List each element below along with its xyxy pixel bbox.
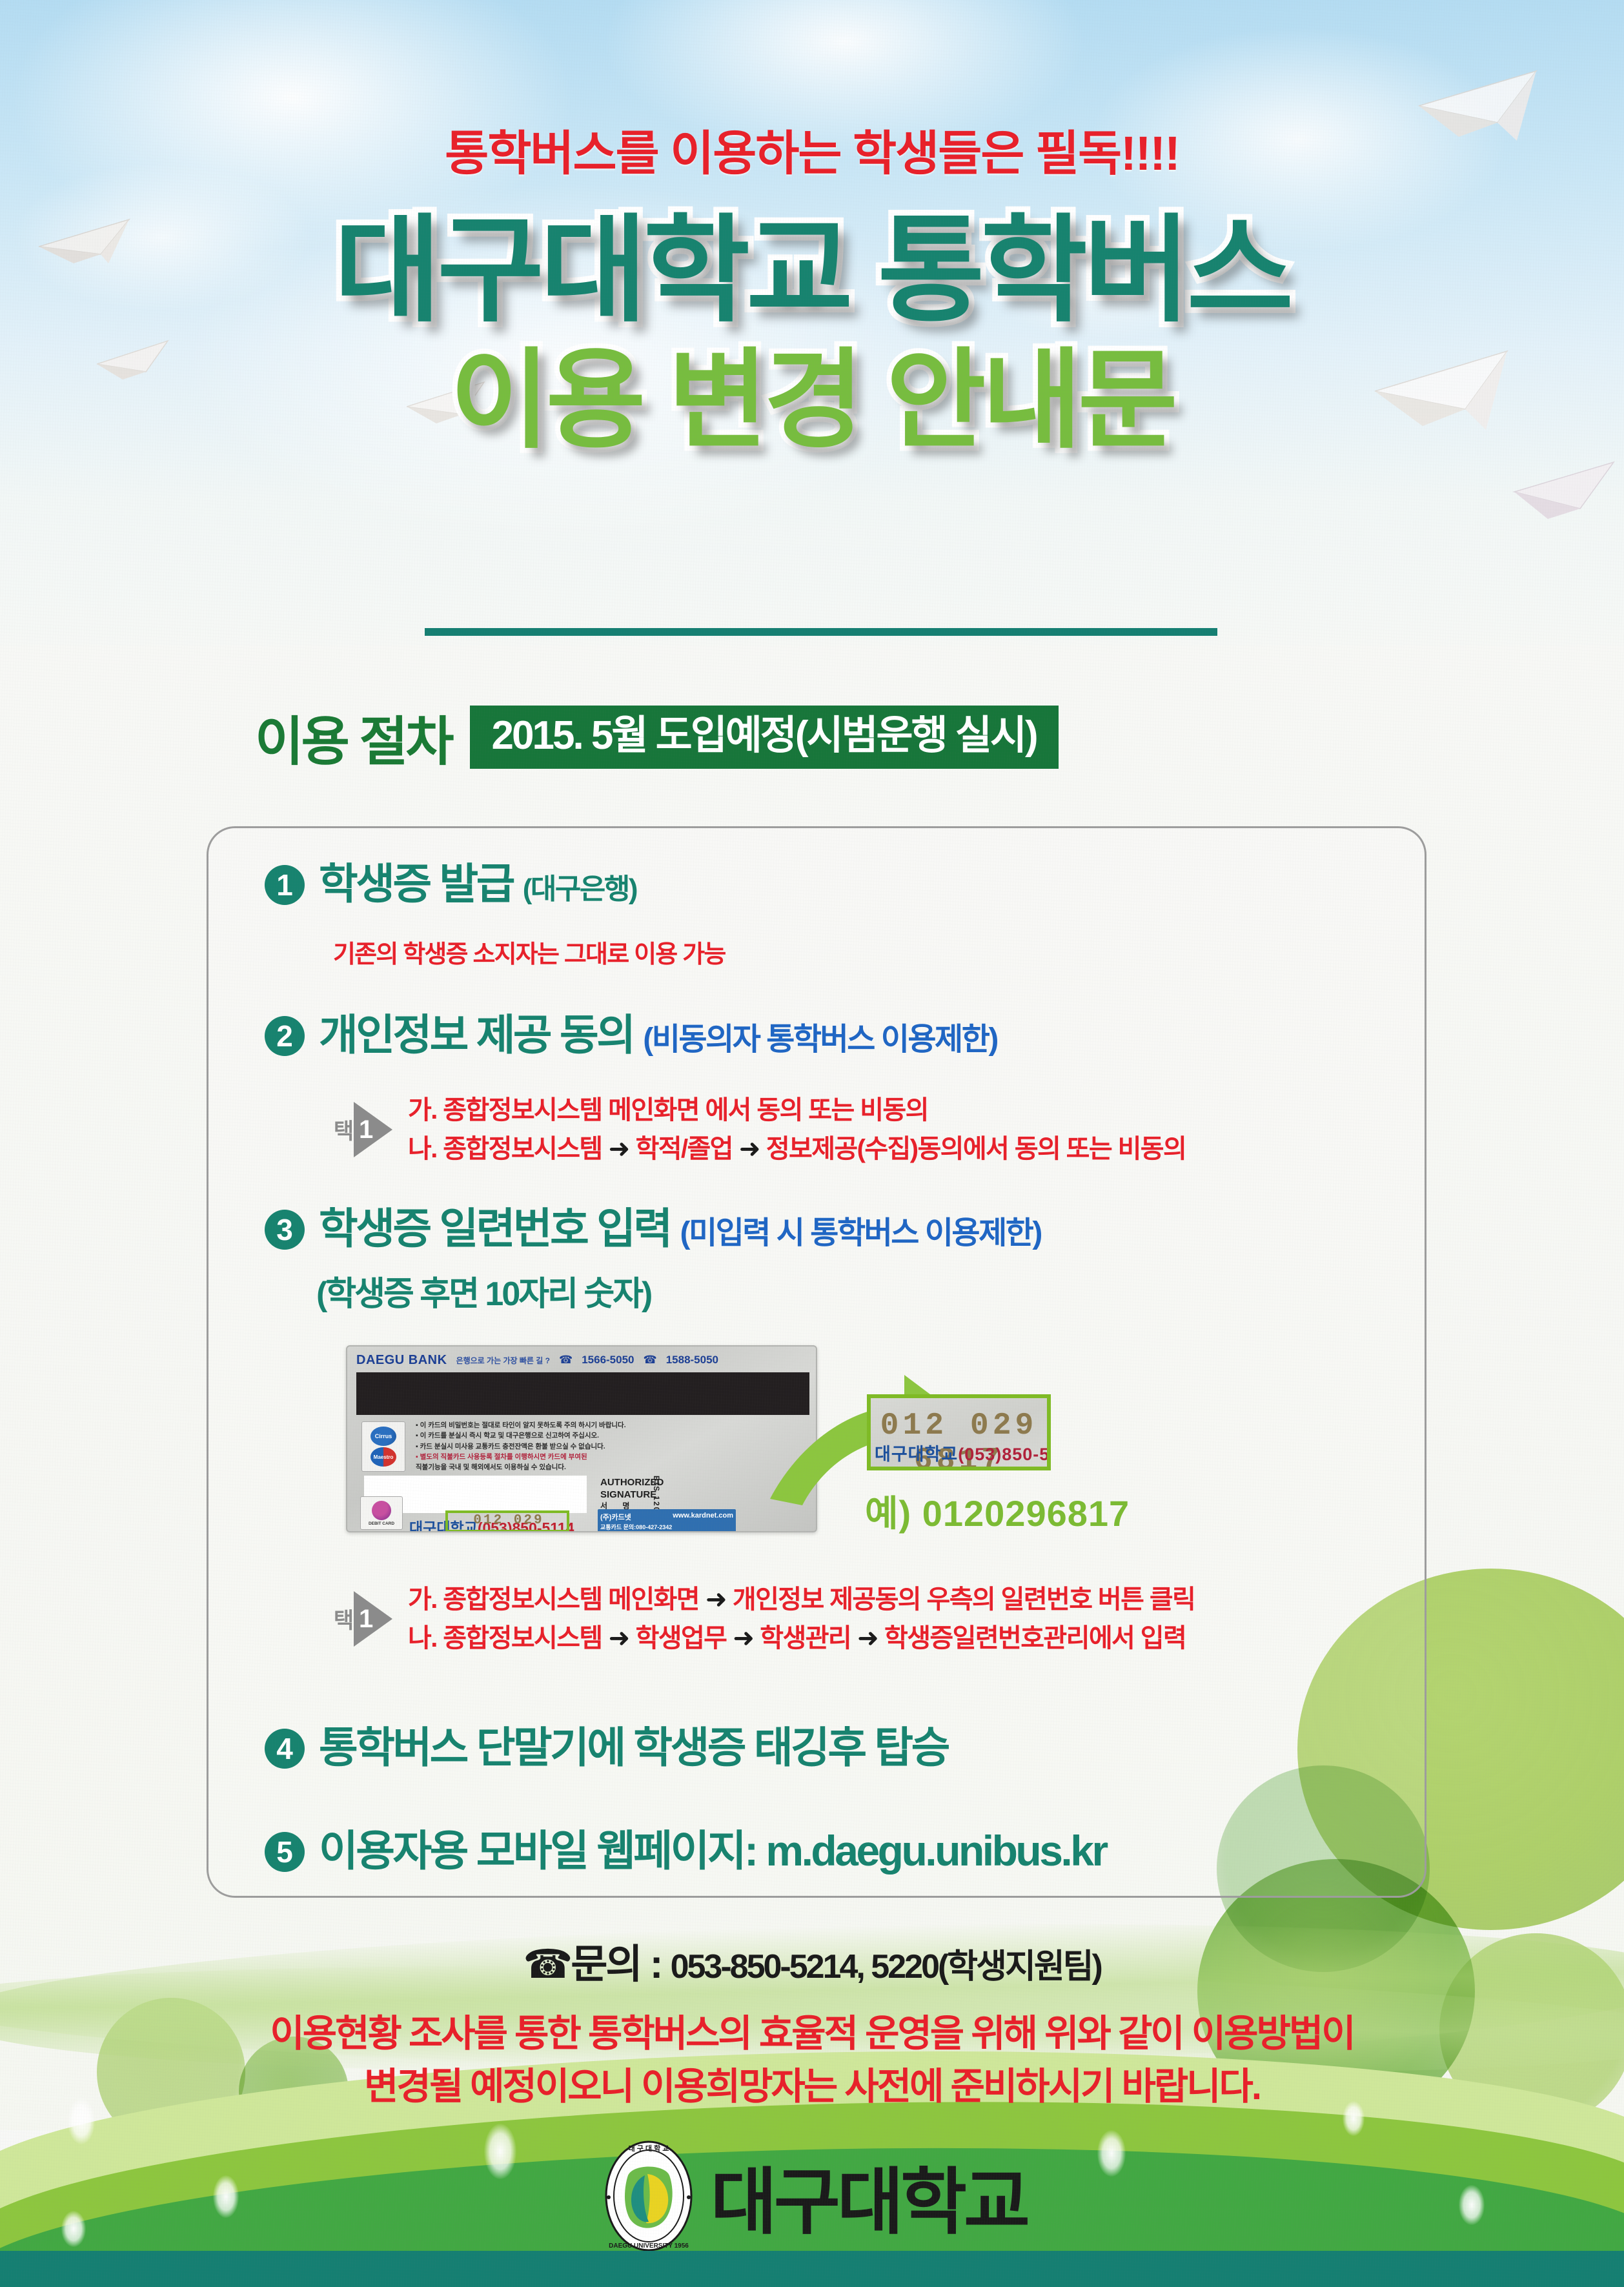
section-title: 이용 절차 — [255, 698, 452, 775]
card-note-line: ▪ 별도의 직불카드 사용등록 절차를 이행하시면 카드에 부여된 — [416, 1452, 719, 1462]
choice-prefix: 나. — [408, 1135, 443, 1163]
choice-prefix: 나. — [408, 1624, 443, 1652]
step-item-4: 4 통학버스 단말기에 학생증 태깅후 탑승 — [265, 1725, 948, 1771]
choice-line: 가. 종합정보시스템 메인화면➜개인정보 제공동의 우측의 일련번호 버튼 클릭 — [408, 1580, 1195, 1619]
step-3-subtitle: (학생증 후면 10자리 숫자) — [316, 1266, 651, 1315]
kicker-text: 통학버스를 이용하는 학생들은 필독!!!! — [0, 115, 1624, 184]
choice-part: 학생관리 — [760, 1624, 851, 1652]
card-note-line: ▪ 이 카드의 비밀번호는 절대로 타인이 알지 못하도록 주의 하시기 바랍니… — [416, 1420, 719, 1430]
serial-example-text: 예) 0120296817 — [865, 1485, 1130, 1537]
card-note-line: ▪ 카드 분실시 미사용 교통카드 충전잔액은 환불 받으실 수 없습니다. — [416, 1441, 719, 1452]
choose-triangle-icon: 1 — [354, 1102, 392, 1157]
maestro-icon: Maestro — [370, 1447, 396, 1467]
choice-line: 나. 종합정보시스템➜학적/졸업➜정보제공(수집)동의에서 동의 또는 비동의 — [408, 1130, 1186, 1168]
university-name: 대구대학교 — [711, 2144, 1027, 2248]
card-magnetic-stripe — [356, 1372, 809, 1415]
card-header: DAEGU BANK 은행으로 가는 가장 빠른 길 ? ☎ 1566-5050… — [356, 1352, 809, 1368]
telephone-icon: ☎ — [523, 1942, 571, 1987]
warning-text: 이용현황 조사를 통한 통학버스의 효율적 운영을 위해 위와 같이 이용방법이… — [0, 2007, 1624, 2114]
step-title-paren: (대구은행) — [523, 873, 636, 905]
step-title-text: 학생증 일련번호 입력 — [319, 1204, 671, 1252]
title-line-2: 이용 변경 안내문 — [0, 346, 1624, 454]
magnified-under-text: 대구대학교(053)850-5 — [875, 1440, 1047, 1465]
paper-plane-icon — [1510, 452, 1620, 529]
warning-line-2: 변경될 예정이오니 이용희망자는 사전에 준비하시기 바랍니다. — [0, 2060, 1624, 2113]
cirrus-maestro-logo: Cirrus Maestro — [361, 1421, 405, 1472]
step-item-5: 5 이용자용 모바일 웹페이지: m.daegu.unibus.kr — [265, 1828, 1106, 1874]
card-notes: ▪ 이 카드의 비밀번호는 절대로 타인이 알지 못하도록 주의 하시기 바랍니… — [416, 1420, 719, 1472]
step-title: 학생증 일련번호 입력 (미입력 시 통학버스 이용제한) — [319, 1206, 1041, 1252]
card-serial-highlight-box — [445, 1510, 569, 1532]
step-title-text: 학생증 발급 — [319, 860, 513, 908]
step-number-badge: 5 — [265, 1832, 305, 1872]
choose-triangle-icon: 1 — [354, 1591, 392, 1647]
section-badge: 2015. 5월 도입예정(시범운행 실시) — [470, 706, 1059, 769]
choose-lines: 가. 종합정보시스템 메인화면 에서 동의 또는 비동의 나. 종합정보시스템➜… — [408, 1091, 1186, 1168]
choose-number: 1 — [359, 1605, 373, 1634]
choice-line: 나. 종합정보시스템➜학생업무➜학생관리➜학생증일련번호관리에서 입력 — [408, 1619, 1195, 1658]
choice-prefix: 가. — [408, 1585, 443, 1614]
choose-lines: 가. 종합정보시스템 메인화면➜개인정보 제공동의 우측의 일련번호 버튼 클릭… — [408, 1580, 1195, 1658]
choice-part: 학생업무 — [636, 1624, 727, 1652]
choice-part: 정보제공(수집)동의에서 동의 또는 비동의 — [766, 1135, 1186, 1163]
arrow-right-icon: ➜ — [699, 1585, 733, 1614]
kardnet-line-2: 교통카드 문의:080-427-2342 — [600, 1523, 733, 1531]
debit-card-logo: DEBIT CARD — [360, 1496, 403, 1530]
card-note-line: 직불기능을 국내 및 해외에서도 이용하실 수 있습니다. — [416, 1462, 719, 1472]
step-1-subtext: 기존의 학생증 소지자는 그대로 이용 가능 — [333, 934, 726, 970]
university-seal-icon: 대 구 대 학 교 DAEGU UNIVERSITY 1956 — [597, 2138, 700, 2254]
step-number-badge: 3 — [265, 1210, 305, 1250]
step-number-badge: 4 — [265, 1729, 305, 1769]
magnified-univ-kr: 대구대학교 — [875, 1445, 958, 1464]
choice-part: 개인정보 제공동의 우측의 일련번호 버튼 클릭 — [733, 1585, 1195, 1614]
university-logo-group: 대 구 대 학 교 DAEGU UNIVERSITY 1956 대구대학교 — [0, 2138, 1624, 2254]
magnified-univ-tel: (053)850-5 — [958, 1445, 1047, 1464]
step-item-1: 1 학생증 발급 (대구은행) — [265, 861, 636, 907]
step-title: 개인정보 제공 동의 (비동의자 통학버스 이용제한) — [319, 1012, 997, 1058]
choice-part: 종합정보시스템 메인화면 에서 동의 또는 비동의 — [443, 1096, 928, 1124]
card-tagline: 은행으로 가는 가장 빠른 길 ? — [456, 1355, 550, 1366]
step-number-badge: 2 — [265, 1016, 305, 1056]
kardnet-line-1: (주)카드넷 www.kardnet.com — [600, 1512, 733, 1522]
telephone-icon: ☎ — [559, 1354, 573, 1367]
poster-title: 대구대학교 통학버스 이용 변경 안내문 — [0, 213, 1624, 454]
choice-part: 학적/졸업 — [636, 1135, 733, 1163]
footer-bar — [0, 2251, 1624, 2287]
step-number-badge: 1 — [265, 865, 305, 905]
step-title: 이용자용 모바일 웹페이지: m.daegu.unibus.kr — [319, 1828, 1106, 1874]
step-title-paren: (비동의자 통학버스 이용제한) — [643, 1022, 997, 1057]
svg-text:대 구 대 학 교: 대 구 대 학 교 — [628, 2144, 669, 2153]
contact-numbers: 053-850-5214, 5220(학생지원팀) — [671, 1948, 1101, 1986]
choice-part: 종합정보시스템 — [443, 1624, 602, 1652]
debit-card-label: DEBIT CARD — [369, 1521, 394, 1526]
title-divider — [425, 628, 1217, 636]
section-header: 이용 절차 2015. 5월 도입예정(시범운행 실시) — [255, 698, 1059, 775]
cirrus-icon: Cirrus — [370, 1427, 396, 1446]
contact-line: ☎문의 : 053-850-5214, 5220(학생지원팀) — [0, 1931, 1624, 1989]
choose-number: 1 — [359, 1115, 373, 1144]
kardnet-name: (주)카드넷 — [600, 1512, 631, 1522]
kardnet-url: www.kardnet.com — [673, 1512, 733, 1522]
step-title: 통학버스 단말기에 학생증 태깅후 탑승 — [319, 1725, 948, 1771]
step-3-choose-group: 택 1 가. 종합정보시스템 메인화면➜개인정보 제공동의 우측의 일련번호 버… — [330, 1580, 1195, 1658]
svg-text:DAEGU UNIVERSITY 1956: DAEGU UNIVERSITY 1956 — [609, 2242, 689, 2250]
choice-part: 종합정보시스템 — [443, 1135, 602, 1163]
step-title-text: 개인정보 제공 동의 — [319, 1011, 633, 1059]
kardnet-badge: (주)카드넷 www.kardnet.com 교통카드 문의:080-427-2… — [598, 1509, 736, 1532]
step-title: 학생증 발급 (대구은행) — [319, 861, 636, 907]
choice-part: 종합정보시스템 메인화면 — [443, 1585, 699, 1614]
arrow-right-icon: ➜ — [851, 1624, 884, 1652]
arrow-right-icon: ➜ — [726, 1624, 760, 1652]
choice-prefix: 가. — [408, 1096, 443, 1124]
card-bank-name: DAEGU BANK — [356, 1353, 447, 1368]
step-title-paren: (미입력 시 통학버스 이용제한) — [680, 1216, 1041, 1250]
step-item-2: 2 개인정보 제공 동의 (비동의자 통학버스 이용제한) — [265, 1012, 997, 1058]
choose-label: 택 — [330, 1609, 352, 1629]
title-line-1: 대구대학교 통학버스 — [0, 213, 1624, 329]
telephone-icon: ☎ — [644, 1354, 657, 1367]
arrow-right-icon: ➜ — [733, 1135, 766, 1163]
arrow-right-icon: ➜ — [602, 1624, 636, 1652]
step-item-3: 3 학생증 일련번호 입력 (미입력 시 통학버스 이용제한) — [265, 1206, 1041, 1252]
warning-line-1: 이용현황 조사를 통한 통학버스의 효율적 운영을 위해 위와 같이 이용방법이 — [0, 2007, 1624, 2060]
card-phone-1: 1566-5050 — [582, 1354, 634, 1367]
poster-root: 통학버스를 이용하는 학생들은 필독!!!! 대구대학교 통학버스 이용 변경 … — [0, 0, 1624, 2287]
card-phone-2: 1588-5050 — [666, 1354, 718, 1367]
step-2-choose-group: 택 1 가. 종합정보시스템 메인화면 에서 동의 또는 비동의 나. 종합정보… — [330, 1091, 1186, 1168]
choice-line: 가. 종합정보시스템 메인화면 에서 동의 또는 비동의 — [408, 1091, 1186, 1130]
arrow-right-icon: ➜ — [602, 1135, 636, 1163]
debit-glyph-icon — [372, 1501, 391, 1520]
choose-label: 택 — [330, 1119, 352, 1140]
contact-prefix: 문의 : — [571, 1942, 670, 1987]
card-note-line: ▪ 이 카드를 분실시 즉시 학교 및 대구은행으로 신고하여 주십시오. — [416, 1430, 719, 1441]
choice-part: 학생증일련번호관리에서 입력 — [884, 1624, 1186, 1652]
student-card-image: DAEGU BANK 은행으로 가는 가장 빠른 길 ? ☎ 1566-5050… — [346, 1345, 817, 1532]
magnified-serial-box: 012 029 6817 대구대학교(053)850-5 — [867, 1394, 1051, 1470]
